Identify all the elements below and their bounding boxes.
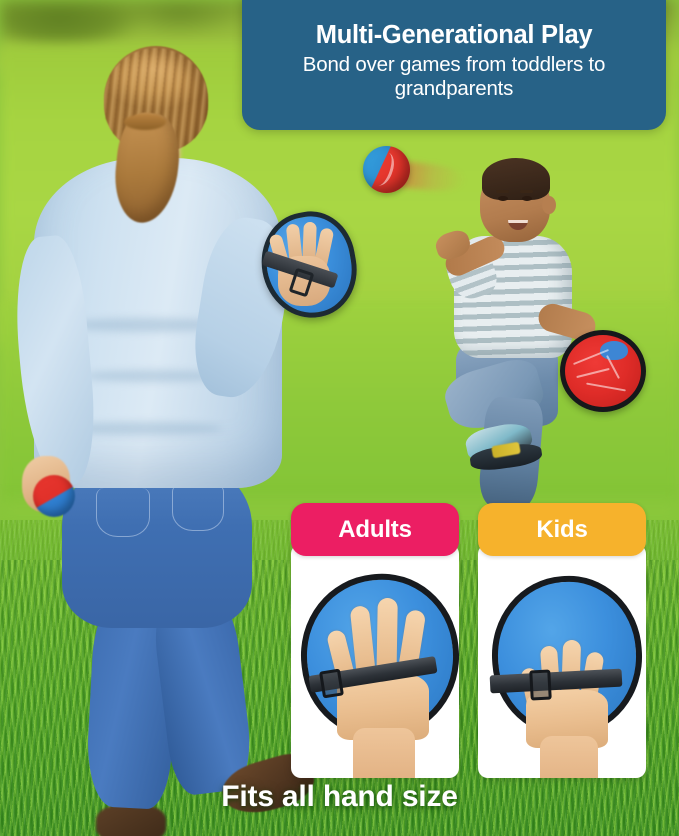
boy-eye-left	[498, 196, 508, 201]
woman-hair-tie	[124, 114, 166, 130]
ball-in-hand	[33, 475, 75, 517]
comparison-card-kids: Kids	[478, 503, 646, 778]
paddle-strap-buckle	[319, 669, 344, 699]
comparison-card-adults: Adults	[291, 503, 459, 778]
banner-title: Multi-Generational Play	[316, 21, 593, 50]
boy-ear	[542, 196, 556, 214]
banner-subtitle: Bond over games from toddlers to grandpa…	[252, 53, 656, 101]
card-tab-kids: Kids	[478, 503, 646, 556]
card-tab-adults: Adults	[291, 503, 459, 556]
woman-figure	[0, 18, 320, 836]
boy-eyebrow-left	[496, 190, 509, 193]
wrist	[540, 736, 598, 778]
boy-hair	[482, 158, 550, 200]
woman-jeans-pocket-right	[172, 484, 224, 531]
headline-banner: Multi-Generational Play Bond over games …	[242, 0, 666, 130]
woman-jeans-pocket-left	[96, 488, 150, 537]
product-feature-image: Multi-Generational Play Bond over games …	[0, 0, 679, 836]
boy-eyebrow-right	[520, 190, 533, 193]
card-body-kids	[478, 544, 646, 778]
bottom-caption: Fits all hand size	[0, 780, 679, 814]
hand-size-comparison: Adults Kids	[291, 503, 646, 778]
card-body-adults	[291, 544, 459, 778]
wrist	[353, 728, 415, 778]
boy-figure	[418, 140, 679, 500]
boy-eye-right	[522, 196, 532, 201]
child-hand	[522, 632, 614, 778]
paddle-strap-buckle	[529, 669, 552, 700]
